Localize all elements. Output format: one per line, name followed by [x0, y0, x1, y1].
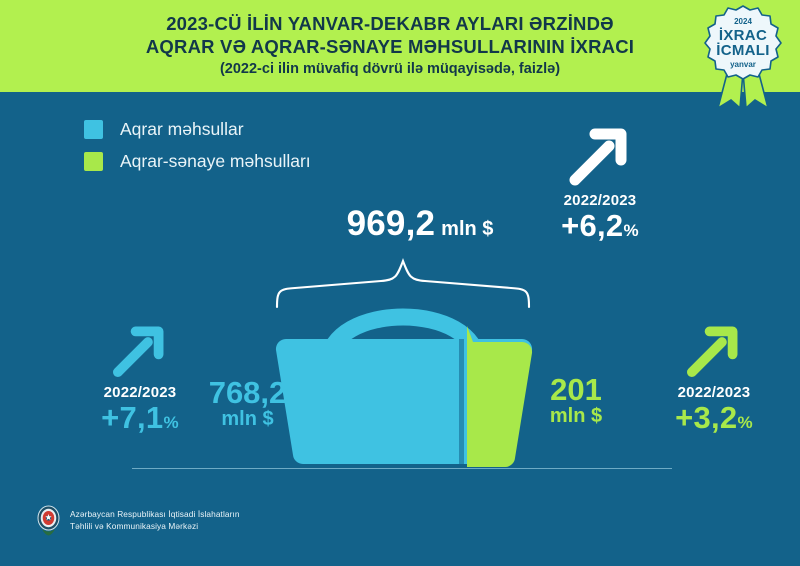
legend-swatch-agrar: [84, 120, 103, 139]
value-agrar-unit: mln $: [190, 409, 305, 430]
ixrac-icmali-badge: 2024 İXRAC İCMALI yanvar: [700, 4, 786, 108]
basket-body-agrar-senaye: [467, 326, 532, 467]
total-unit: mln $: [441, 218, 493, 240]
basket-divider: [459, 339, 464, 464]
stat-agrar-senaye-period: 2022/2023: [628, 384, 800, 401]
title-line-2: AQRAR VƏ AQRAR-SƏNAYE MƏHSULLARININ İXRA…: [110, 35, 670, 58]
stat-total-change: 2022/2023 +6,2%: [505, 124, 695, 243]
stat-total-period: 2022/2023: [505, 192, 695, 209]
legend-item-agrar-senaye: Aqrar-sənaye məhsulları: [84, 145, 311, 177]
footer-line-1: Azərbaycan Respublikası İqtisadi İslahat…: [70, 509, 240, 521]
total-value: 969,2mln $: [310, 204, 530, 244]
legend-label-agrar-senaye: Aqrar-sənaye məhsulları: [120, 151, 311, 172]
value-agrar-senaye-number: 201: [526, 373, 626, 406]
arrow-up-right-icon: [109, 322, 171, 378]
arrow-up-right-icon: [683, 322, 745, 378]
value-label-agrar: 768,2 mln $: [190, 376, 305, 431]
arrow-up-right-icon: [565, 124, 635, 186]
title-line-1: 2023-CÜ İLİN YANVAR-DEKABR AYLARI ƏRZİND…: [110, 12, 670, 35]
stat-agrar-senaye-percent-suffix: %: [737, 413, 752, 432]
stat-agrar-senaye-change: 2022/2023 +3,2%: [628, 322, 800, 435]
basket-chart-graphic: [255, 255, 555, 470]
footer-text: Azərbaycan Respublikası İqtisadi İslahat…: [70, 509, 240, 532]
azerbaijan-emblem-icon: [36, 505, 61, 536]
stat-agrar-percent-value: +7,1: [101, 400, 163, 435]
badge-seal-icon: [700, 4, 786, 108]
brace-icon: [277, 261, 529, 307]
infographic-poster: 2023-CÜ İLİN YANVAR-DEKABR AYLARI ƏRZİND…: [0, 0, 800, 566]
stat-total-percent: +6,2%: [505, 210, 695, 243]
footer: Azərbaycan Respublikası İqtisadi İslahat…: [36, 505, 240, 536]
stat-agrar-senaye-percent: +3,2%: [628, 402, 800, 435]
legend-label-agrar: Aqrar məhsullar: [120, 119, 244, 140]
stat-agrar-senaye-percent-value: +3,2: [675, 400, 737, 435]
footer-line-2: Təhlili və Kommunikasiya Mərkəzi: [70, 521, 240, 533]
page-title: 2023-CÜ İLİN YANVAR-DEKABR AYLARI ƏRZİND…: [110, 12, 670, 80]
value-agrar-number: 768,2: [190, 376, 305, 409]
legend-item-agrar: Aqrar məhsullar: [84, 113, 311, 145]
stat-agrar-percent-suffix: %: [163, 413, 178, 432]
value-agrar-senaye-unit: mln $: [526, 406, 626, 427]
basket-svg: [255, 255, 555, 470]
value-label-agrar-senaye: 201 mln $: [526, 373, 626, 428]
stat-total-percent-suffix: %: [623, 221, 638, 240]
title-subtitle: (2022-ci ilin müvafiq dövrü ilə müqayisə…: [110, 59, 670, 80]
total-number: 969,2: [347, 204, 436, 243]
header-band: 2023-CÜ İLİN YANVAR-DEKABR AYLARI ƏRZİND…: [0, 0, 800, 92]
legend: Aqrar məhsullar Aqrar-sənaye məhsulları: [84, 113, 311, 177]
baseline-divider: [132, 468, 672, 469]
stat-total-percent-value: +6,2: [561, 208, 623, 243]
legend-swatch-agrar-senaye: [84, 152, 103, 171]
